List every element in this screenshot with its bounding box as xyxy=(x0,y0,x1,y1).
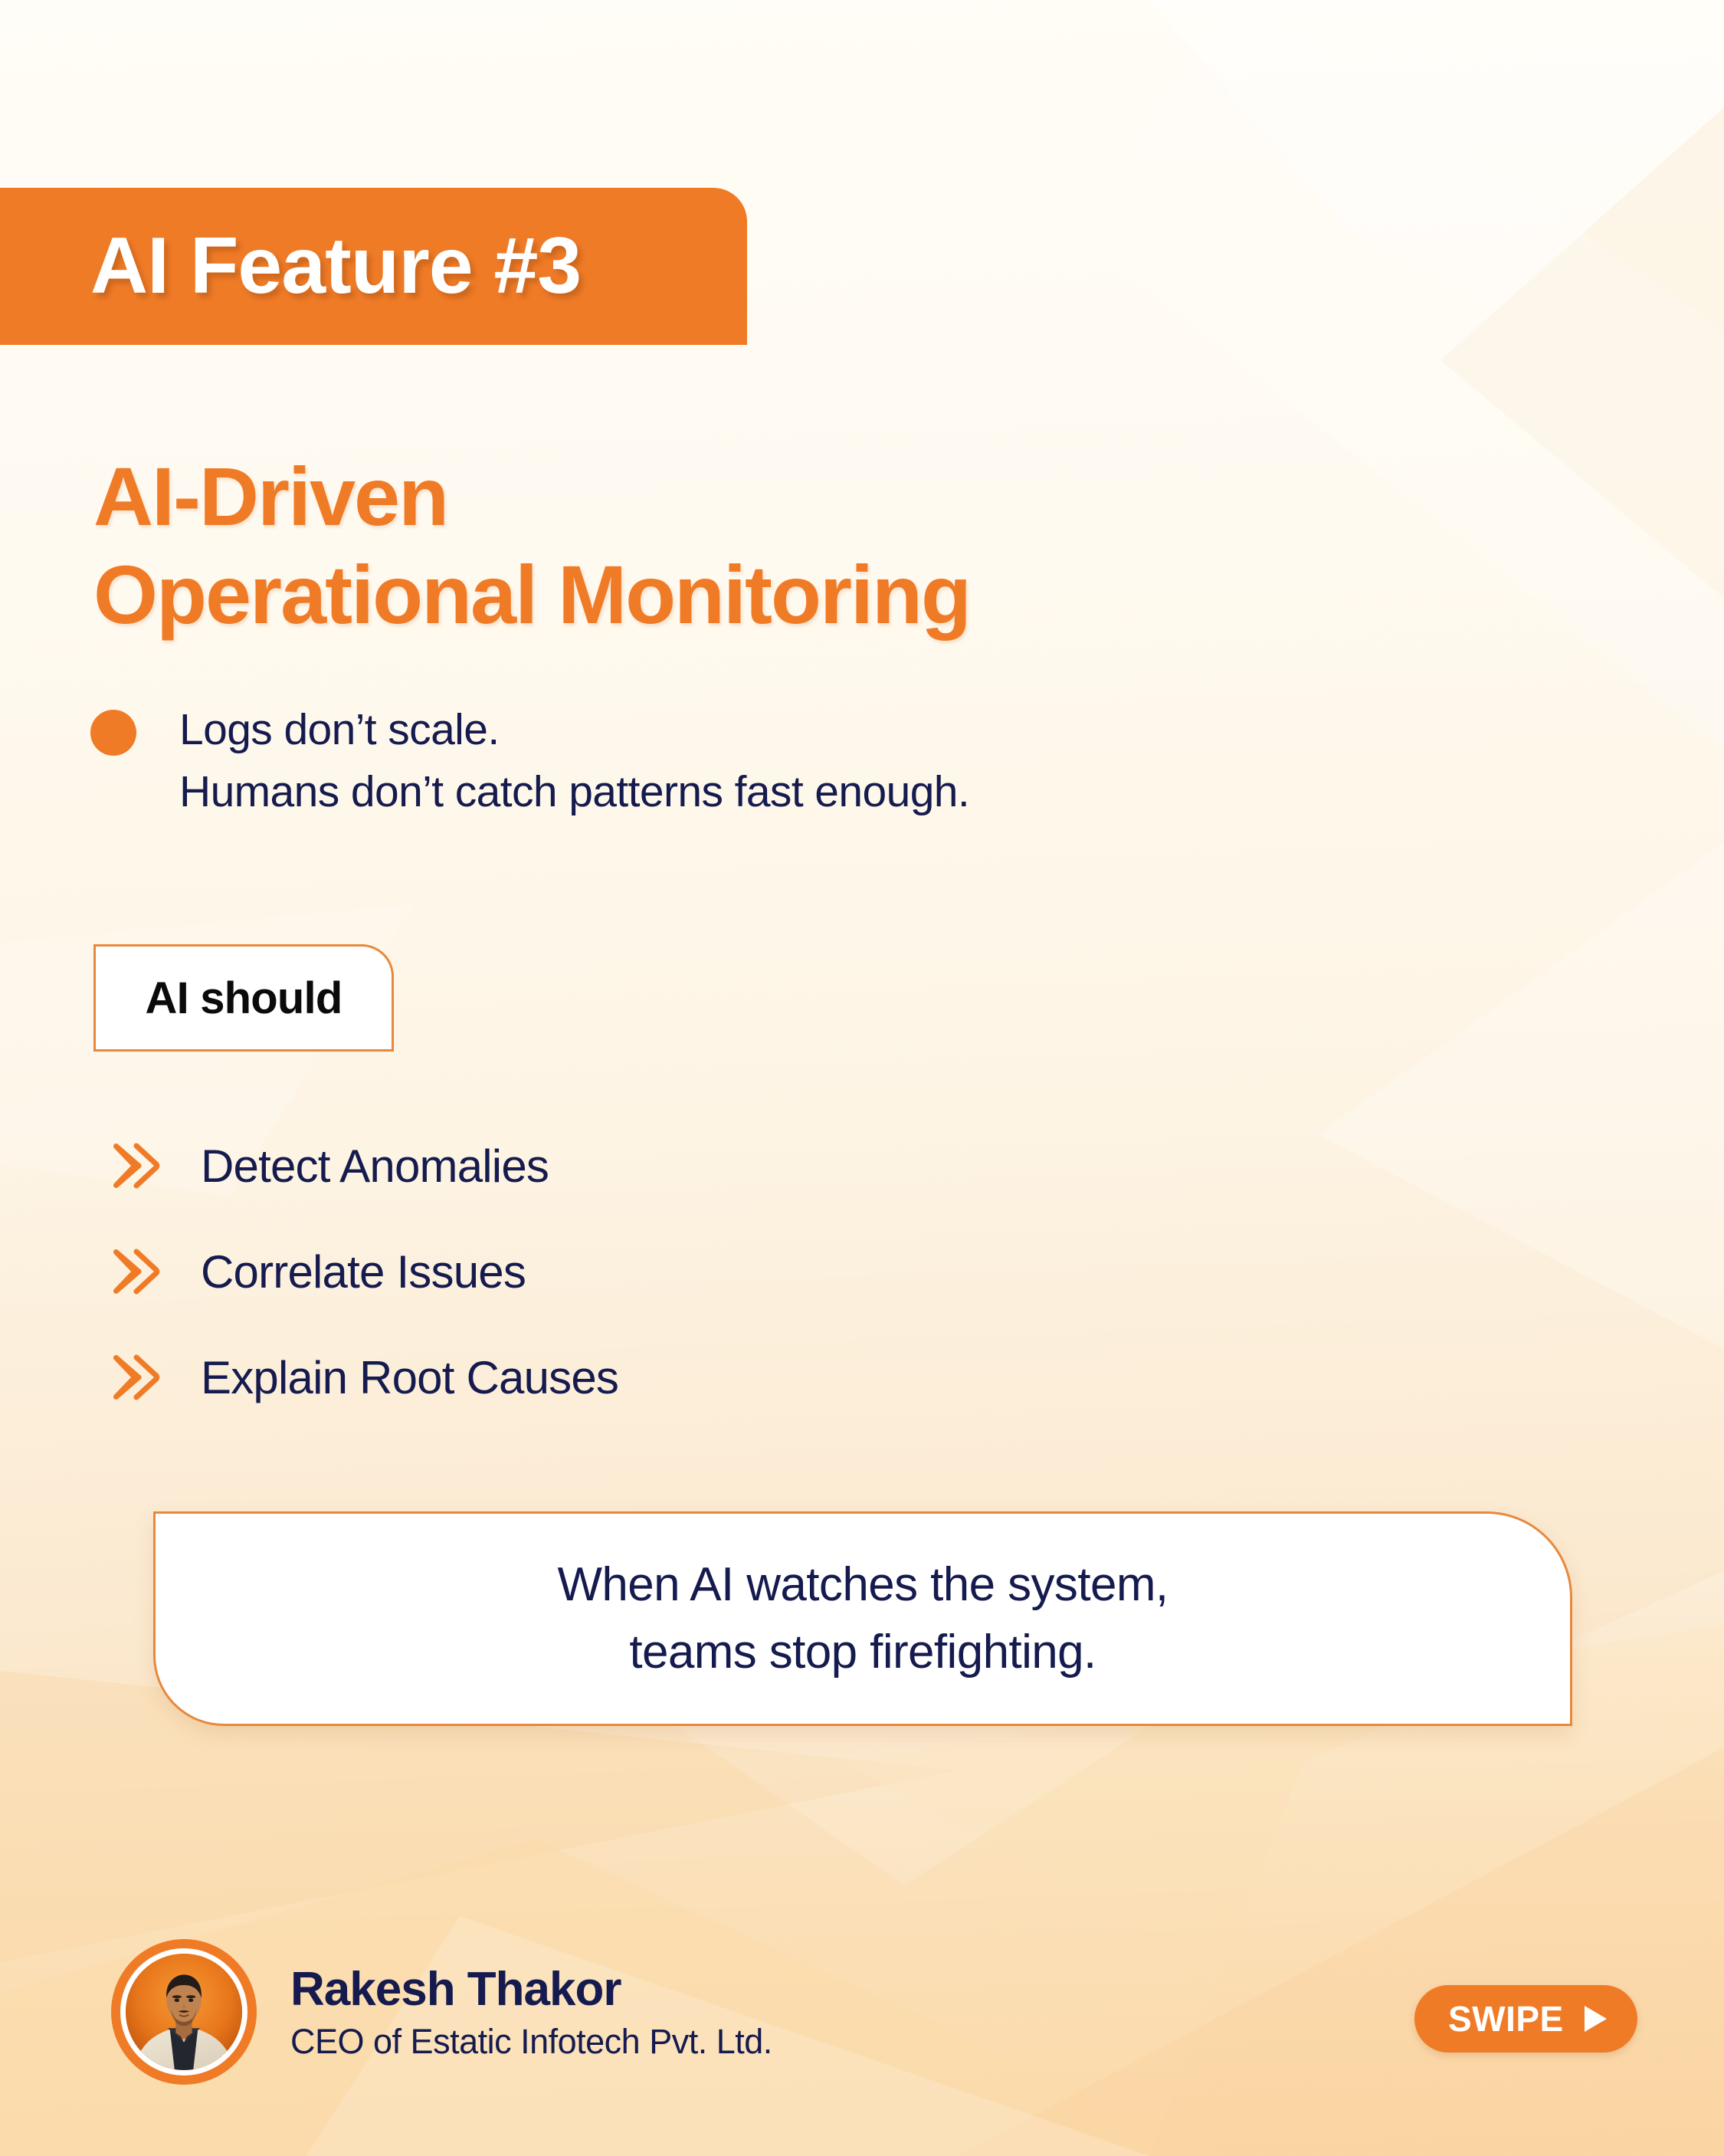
author-info: Rakesh Thakor CEO of Estatic Infotech Pv… xyxy=(290,1966,772,2059)
list-item: Correlate Issues xyxy=(107,1219,618,1324)
page-title: AI-Driven Operational Monitoring xyxy=(93,448,970,643)
list-item-label: Correlate Issues xyxy=(201,1245,526,1298)
double-chevron-right-icon xyxy=(107,1138,162,1193)
filled-circle-icon xyxy=(90,710,136,756)
ai-should-badge: AI should xyxy=(93,944,394,1052)
swipe-button-label: SWIPE xyxy=(1448,1998,1564,2040)
capability-list: Detect Anomalies Correlate Issues Explai… xyxy=(107,1113,618,1430)
double-chevron-right-icon xyxy=(107,1350,162,1405)
author-footer: Rakesh Thakor CEO of Estatic Infotech Pv… xyxy=(111,1939,772,2085)
avatar xyxy=(111,1939,257,2085)
feature-banner-label: AI Feature #3 xyxy=(90,221,581,312)
avatar-photo xyxy=(126,1954,242,2070)
quote-text: When AI watches the system, teams stop f… xyxy=(557,1551,1168,1686)
problem-statement-text: Logs don’t scale. Humans don’t catch pat… xyxy=(179,699,969,823)
quote-card: When AI watches the system, teams stop f… xyxy=(153,1511,1572,1726)
list-item-label: Explain Root Causes xyxy=(201,1351,618,1404)
carousel-slide: AI Feature #3 AI-Driven Operational Moni… xyxy=(0,0,1724,2156)
play-triangle-right-icon xyxy=(1581,2003,1610,2034)
feature-banner: AI Feature #3 xyxy=(0,188,747,345)
swipe-button[interactable]: SWIPE xyxy=(1414,1985,1637,2053)
double-chevron-right-icon xyxy=(107,1244,162,1299)
avatar-frame xyxy=(120,1948,247,2076)
author-name: Rakesh Thakor xyxy=(290,1966,772,2013)
author-role: CEO of Estatic Infotech Pvt. Ltd. xyxy=(290,2024,772,2059)
list-item: Explain Root Causes xyxy=(107,1324,618,1430)
list-item-label: Detect Anomalies xyxy=(201,1140,549,1193)
problem-statement: Logs don’t scale. Humans don’t catch pat… xyxy=(90,699,969,823)
list-item: Detect Anomalies xyxy=(107,1113,618,1219)
ai-should-badge-label: AI should xyxy=(145,973,342,1024)
